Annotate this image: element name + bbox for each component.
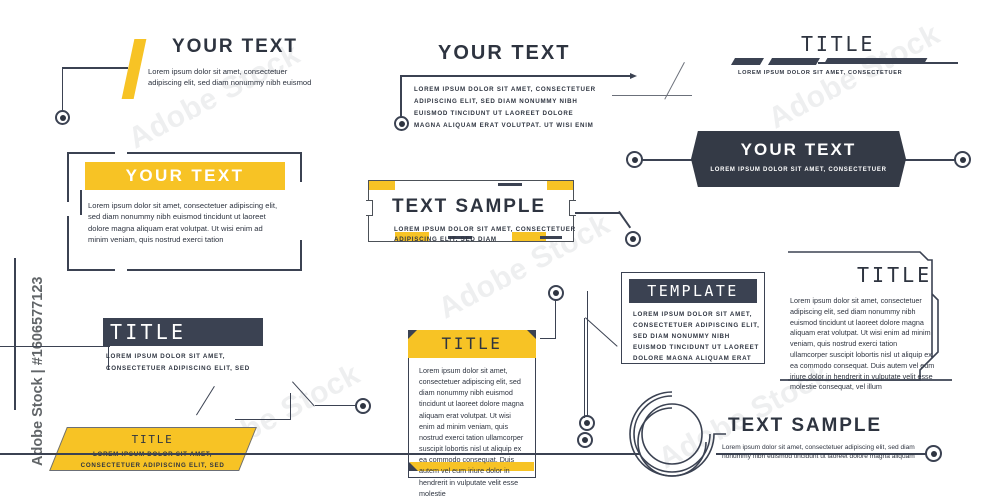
connector-line-diagonal — [196, 386, 215, 416]
accent-chip-dark — [498, 183, 522, 186]
spiral-icon — [620, 388, 726, 486]
card-body-line5: dolore magna aliquam erat — [633, 353, 751, 364]
frame-body-line2: adipiscing elit, sed diam — [394, 234, 584, 245]
title-band: YOUR TEXT — [85, 162, 285, 190]
frame-corner-tl — [67, 152, 115, 154]
hexagon-body: Lorem ipsum dolor sit amet, consectetuer — [691, 165, 906, 176]
frame-edge-bottom — [127, 269, 302, 271]
parallelogram-shape: TITLE Lorem ipsum dolor sit amet, consec… — [49, 427, 257, 471]
card-body: Lorem ipsum dolor sit amet, consectetuer… — [88, 200, 283, 246]
callout-title: YOUR TEXT — [172, 36, 298, 58]
connector-line — [290, 393, 291, 420]
frame-corner-bl — [67, 269, 115, 271]
frame-notch-right — [569, 200, 576, 216]
connector-dot[interactable] — [394, 116, 409, 131]
connector-line — [235, 419, 291, 420]
connector-line-diagonal — [618, 211, 631, 228]
slanted-title: TITLE — [801, 32, 875, 56]
infographic-canvas: Adobe Stock Adobe Stock Adobe Stock Adob… — [0, 0, 1000, 500]
callout-body-line1: Lorem ipsum dolor sit amet, consectetuer — [414, 84, 644, 95]
callout-body-line4: magna aliquam erat volutpat. Ut wisi eni… — [414, 120, 654, 131]
arrow-head-icon — [630, 73, 637, 79]
callout-body-line2: adipiscing elit, sed diam nonummy nibh — [414, 96, 644, 107]
card-body-line2: consectetuer adipiscing elit, — [633, 320, 760, 331]
corner-triangle-icon — [527, 330, 536, 339]
accent-chip-dark — [768, 58, 820, 65]
accent-chip — [547, 181, 573, 190]
frame-notch-left — [366, 200, 373, 216]
connector-line — [540, 338, 556, 339]
connector-dot[interactable] — [579, 415, 595, 431]
accent-slash — [122, 39, 147, 99]
connector-dot[interactable] — [548, 285, 564, 301]
accent-rule-dark — [818, 62, 958, 64]
hexagon-shape: YOUR TEXT Lorem ipsum dolor sit amet, co… — [691, 131, 906, 187]
watermark-rule — [14, 258, 16, 410]
frame-inner-mark — [80, 190, 82, 215]
connector-dot[interactable] — [355, 398, 371, 414]
connector-line-diagonal — [585, 317, 618, 347]
watermark-label: Adobe Stock | #1606577123 — [30, 277, 46, 466]
bottom-body-line2: nonummy nibh euismod tincidunt ut laoree… — [722, 452, 915, 462]
connector-line — [587, 291, 588, 417]
connector-dot[interactable] — [625, 231, 641, 247]
outline-body: Lorem ipsum dolor sit amet, consectetuer… — [790, 296, 936, 393]
card-title: TEMPLATE — [629, 279, 757, 303]
connector-line — [555, 300, 556, 339]
connector-dot[interactable] — [577, 432, 593, 448]
parallelogram-body-line2: consectetuer adipiscing elit, sed — [59, 460, 247, 471]
hexagon-title: YOUR TEXT — [691, 140, 906, 160]
connector-line — [400, 75, 402, 117]
card-header-bar: TEMPLATE — [629, 279, 757, 303]
connector-line — [62, 67, 128, 69]
connector-line — [903, 159, 955, 161]
title-bar: TITLE — [103, 318, 263, 346]
card-body-line4: euismod tincidunt ut laoreet — [633, 342, 759, 353]
frame-edge-top — [127, 152, 302, 154]
card-body-line1: Lorem ipsum dolor sit amet, — [106, 351, 306, 362]
connector-line-diagonal — [292, 381, 315, 406]
card-body: Lorem ipsum dolor sit amet, consectetuer… — [419, 365, 525, 499]
connector-line — [642, 159, 694, 161]
base-line — [0, 453, 640, 455]
connector-line — [400, 75, 634, 77]
title-band-label: YOUR TEXT — [85, 162, 285, 190]
accent-chip-dark — [731, 58, 764, 65]
callout-title: YOUR TEXT — [438, 42, 570, 65]
card-header-band: TITLE — [408, 330, 536, 358]
frame-corner-bl — [67, 216, 69, 271]
connector-dot[interactable] — [954, 151, 971, 168]
corner-triangle-icon — [408, 330, 417, 339]
bottom-title: TEXT SAMPLE — [728, 415, 882, 437]
slanted-body: Lorem ipsum dolor sit amet, consectetuer — [738, 68, 998, 78]
frame-corner-tl — [67, 152, 69, 202]
card-title: TITLE — [408, 330, 536, 358]
connector-line — [584, 318, 585, 418]
parallelogram-title: TITLE — [59, 433, 247, 446]
card-body-line1: Lorem ipsum dolor sit amet, — [633, 309, 752, 320]
parallelogram-body-line1: Lorem ipsum dolor sit amet, — [59, 449, 247, 460]
accent-chip — [369, 181, 395, 190]
frame-corner-tr — [300, 152, 302, 182]
connector-line — [612, 95, 692, 96]
connector-dot[interactable] — [626, 151, 643, 168]
connector-line — [62, 68, 64, 112]
frame-title: TEXT SAMPLE — [392, 196, 546, 218]
connector-dot[interactable] — [55, 110, 70, 125]
title-bar-label: TITLE — [103, 318, 263, 346]
card-body-line3: sed diam nonummy nibh — [633, 331, 730, 342]
corner-triangle-icon — [409, 462, 418, 471]
connector-line — [575, 212, 620, 214]
connector-dot[interactable] — [925, 445, 942, 462]
frame-corner-br — [300, 240, 302, 271]
outline-title: TITLE — [857, 263, 932, 287]
card-body-line2: consectetuer adipiscing elit, sed — [106, 363, 326, 374]
callout-body-line3: euismod tincidunt ut laoreet dolore — [414, 108, 644, 119]
callout-body: Lorem ipsum dolor sit amet, consectetuer… — [148, 66, 314, 89]
connector-line — [0, 346, 110, 347]
connector-line — [315, 405, 357, 406]
